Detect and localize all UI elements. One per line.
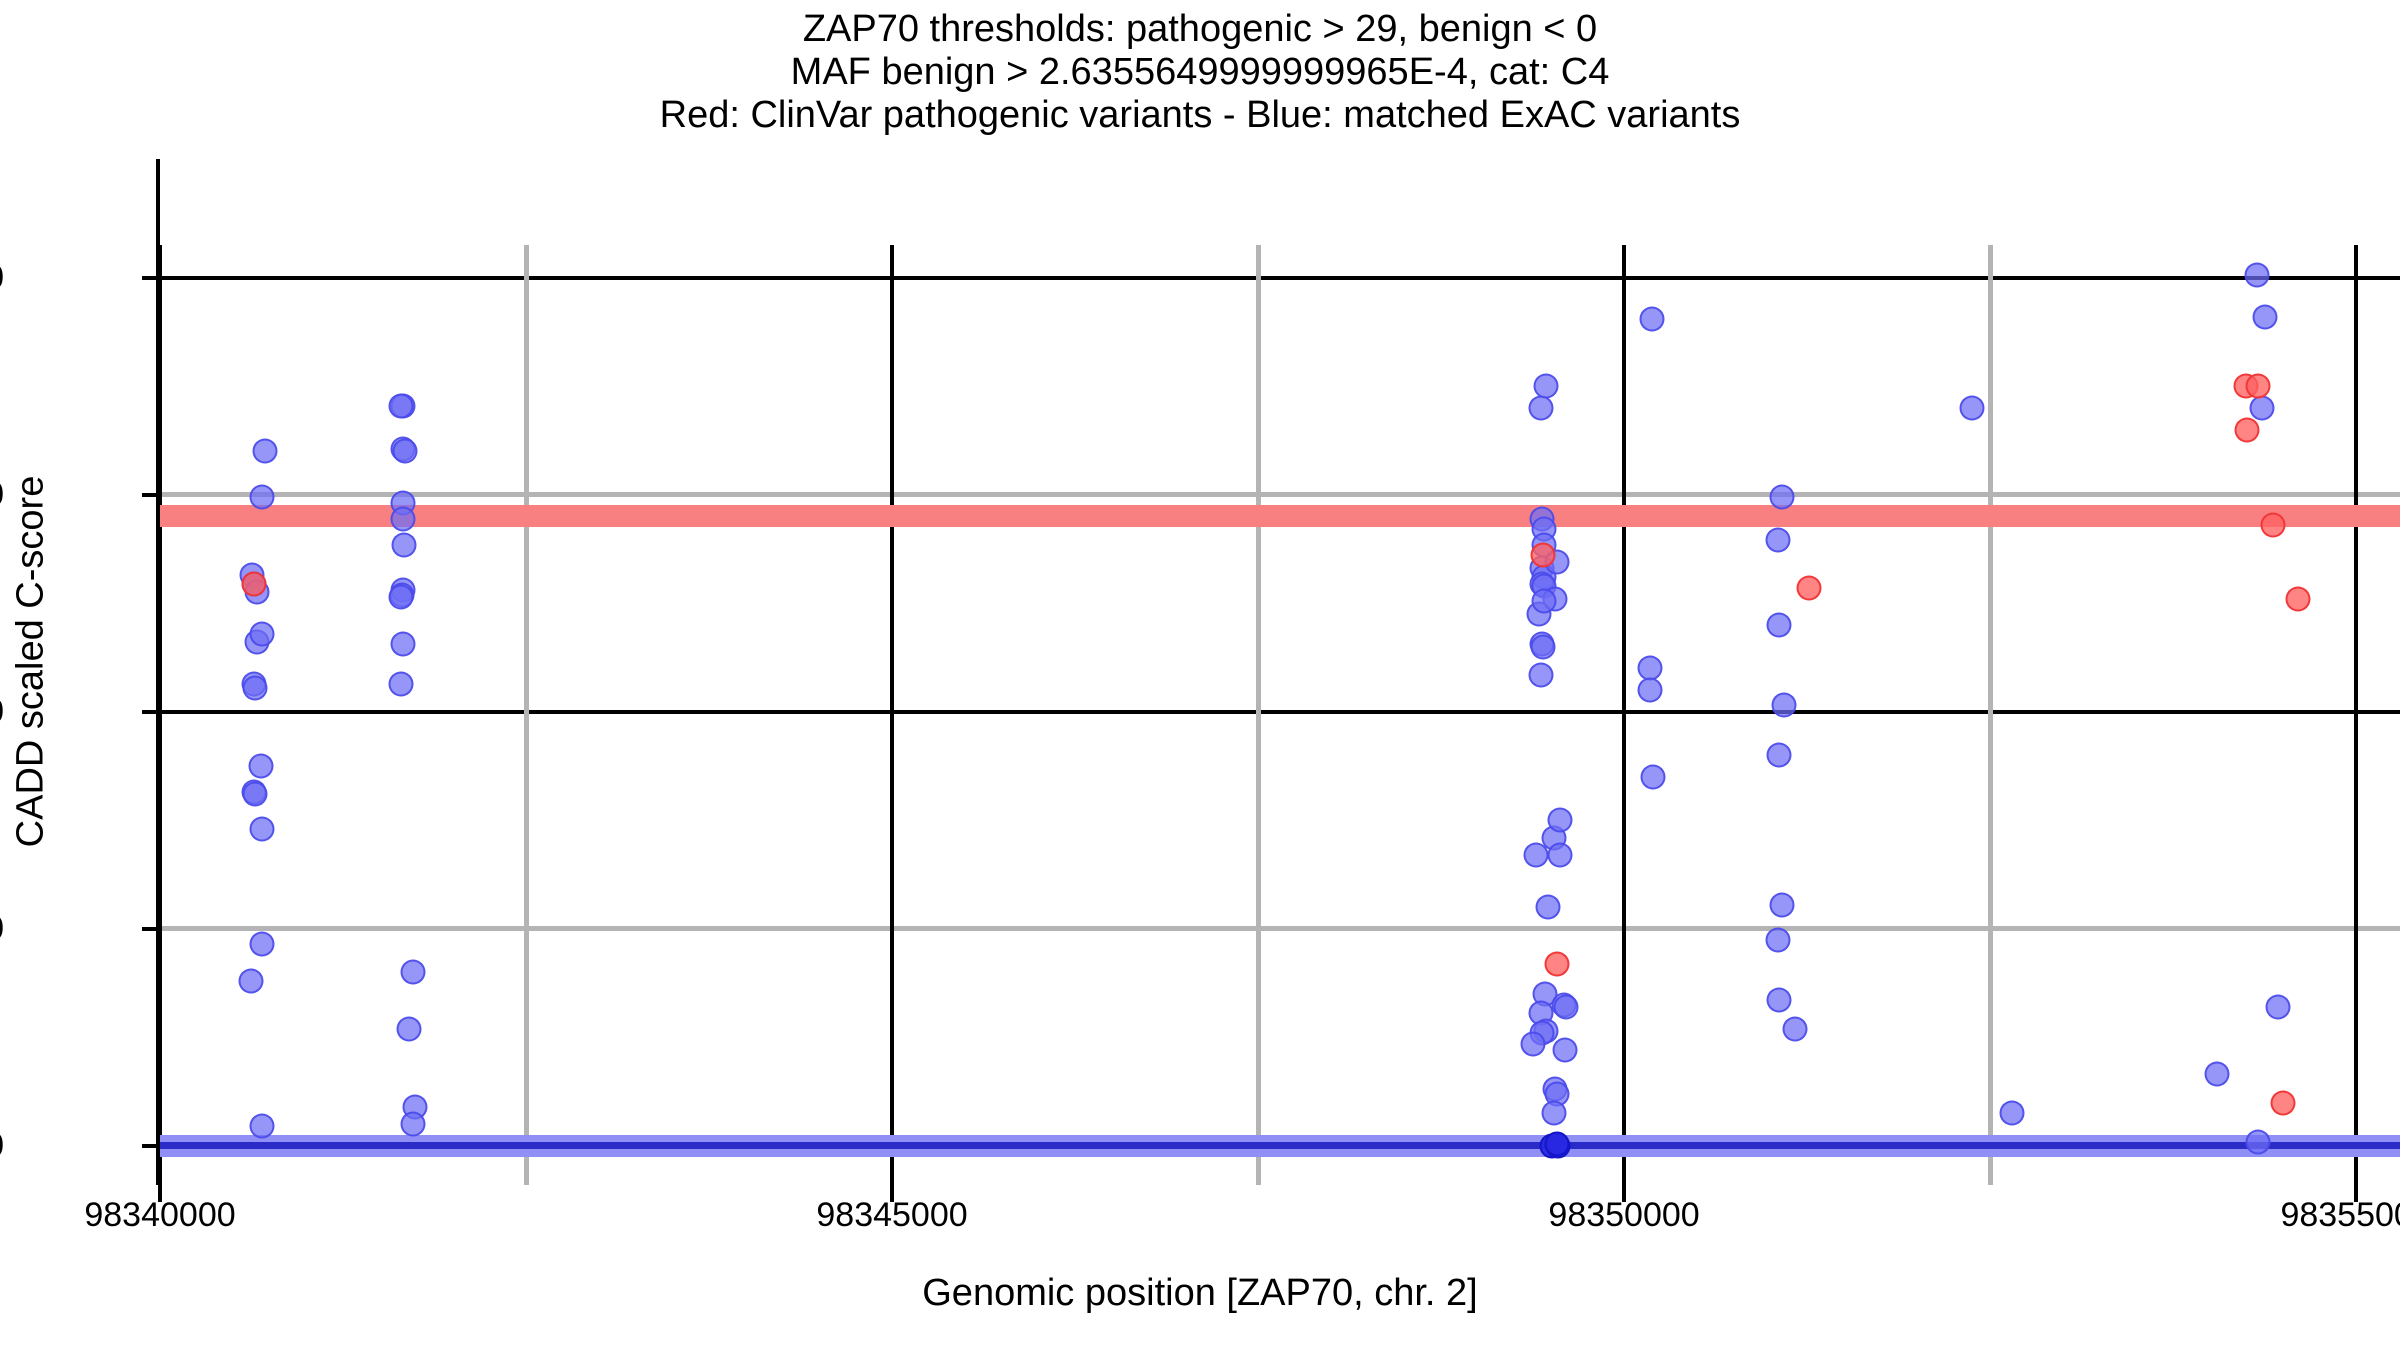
point-exac bbox=[396, 1016, 421, 1041]
point-exac bbox=[250, 816, 275, 841]
y-axis-label: CADD scaled C-score bbox=[0, 0, 59, 1350]
point-exac bbox=[1641, 764, 1666, 789]
point-exac bbox=[253, 439, 278, 464]
point-exac bbox=[2250, 395, 2275, 420]
point-exac bbox=[1783, 1016, 1808, 1041]
point-exac bbox=[389, 584, 414, 609]
gridline-y-40 bbox=[160, 276, 2400, 280]
point-exac bbox=[2245, 1129, 2270, 1154]
point-exac bbox=[250, 1114, 275, 1139]
gridline-x-98350000 bbox=[1622, 245, 1626, 1185]
point-exac bbox=[2244, 263, 2269, 288]
point-pathogenic bbox=[242, 571, 267, 596]
point-exac bbox=[401, 1112, 426, 1137]
point-exac bbox=[401, 960, 426, 985]
point-exac bbox=[1528, 395, 1553, 420]
point-exac bbox=[1553, 1038, 1578, 1063]
point-exac bbox=[389, 393, 414, 418]
point-exac bbox=[250, 932, 275, 957]
plot-background bbox=[160, 245, 2400, 1185]
point-exac bbox=[250, 484, 275, 509]
point-exac bbox=[1960, 395, 1985, 420]
point-exac bbox=[1532, 589, 1557, 614]
point-exac bbox=[1767, 743, 1792, 768]
point-exac bbox=[389, 671, 414, 696]
gridline-x-98342500 bbox=[524, 245, 529, 1185]
point-pathogenic bbox=[2260, 513, 2285, 538]
point-exac bbox=[1521, 1031, 1546, 1056]
gridline-x-98352500 bbox=[1988, 245, 1993, 1185]
point-exac bbox=[1767, 612, 1792, 637]
point-exac bbox=[238, 968, 263, 993]
title-line-thresholds: ZAP70 thresholds: pathogenic > 29, benig… bbox=[0, 8, 2400, 51]
point-exac bbox=[1767, 988, 1792, 1013]
point-exac bbox=[2266, 994, 2291, 1019]
point-exac bbox=[1770, 484, 1795, 509]
point-exac bbox=[392, 532, 417, 557]
x-axis-label: Genomic position [ZAP70, chr. 2] bbox=[0, 1272, 2400, 1315]
y-tick-mark-0 bbox=[142, 1144, 158, 1148]
y-tick-mark-30 bbox=[142, 493, 158, 497]
gridline-x-98345000 bbox=[890, 245, 894, 1185]
title-line-legend: Red: ClinVar pathogenic variants - Blue:… bbox=[0, 94, 2400, 137]
x-tick-label-98355000: 98355000 bbox=[2280, 1196, 2400, 1235]
y-tick-mark-10 bbox=[142, 927, 158, 931]
point-pathogenic bbox=[2285, 586, 2310, 611]
x-tick-mark-98355000 bbox=[2354, 1185, 2358, 1202]
x-tick-mark-98340000 bbox=[158, 1185, 162, 1202]
point-exac bbox=[391, 506, 416, 531]
chart-title: ZAP70 thresholds: pathogenic > 29, benig… bbox=[0, 8, 2400, 137]
chart-root: ZAP70 thresholds: pathogenic > 29, benig… bbox=[0, 0, 2400, 1350]
point-exac bbox=[2253, 304, 2278, 329]
point-exac bbox=[392, 439, 417, 464]
point-pathogenic bbox=[2235, 417, 2260, 442]
point-exac bbox=[391, 632, 416, 657]
x-tick-mark-98350000 bbox=[1622, 1185, 1626, 1202]
benign-threshold-line bbox=[160, 1142, 2400, 1149]
point-exac bbox=[243, 782, 268, 807]
y-axis-label-text: CADD scaled C-score bbox=[10, 382, 53, 942]
benign-threshold-band bbox=[160, 1135, 2400, 1157]
y-tick-mark-20 bbox=[142, 710, 158, 714]
point-exac bbox=[1541, 1101, 1566, 1126]
point-exac bbox=[1547, 843, 1572, 868]
point-exac bbox=[1534, 374, 1559, 399]
pathogenic-threshold-band bbox=[160, 505, 2400, 527]
y-tick-mark-40 bbox=[142, 276, 158, 280]
y-tick-label-0: 0 bbox=[0, 1126, 4, 1165]
point-exac bbox=[1535, 895, 1560, 920]
point-exac bbox=[1771, 693, 1796, 718]
plot-area bbox=[160, 245, 2400, 1185]
point-exac bbox=[249, 754, 274, 779]
gridline-x-98340000 bbox=[158, 245, 162, 1185]
point-exac bbox=[2204, 1062, 2229, 1087]
gridline-x-98355000 bbox=[2354, 245, 2358, 1185]
point-exac bbox=[250, 621, 275, 646]
gridline-y-30 bbox=[160, 492, 2400, 497]
point-pathogenic bbox=[2245, 374, 2270, 399]
point-pathogenic bbox=[1544, 951, 1569, 976]
point-exac bbox=[1530, 634, 1555, 659]
point-pathogenic bbox=[2270, 1090, 2295, 1115]
y-tick-label-40: 40 bbox=[0, 258, 4, 297]
point-exac bbox=[1765, 927, 1790, 952]
gridline-x-98347500 bbox=[1256, 245, 1261, 1185]
point-exac bbox=[1528, 662, 1553, 687]
y-tick-label-30: 30 bbox=[0, 475, 4, 514]
y-tick-label-20: 20 bbox=[0, 692, 4, 731]
point-exac bbox=[1547, 808, 1572, 833]
point-exac bbox=[1770, 892, 1795, 917]
point-exac bbox=[2000, 1101, 2025, 1126]
y-tick-label-10: 10 bbox=[0, 909, 4, 948]
point-exac bbox=[1765, 528, 1790, 553]
point-exac bbox=[1639, 306, 1664, 331]
point-exac bbox=[242, 675, 267, 700]
point-exac bbox=[1637, 678, 1662, 703]
gridline-y-10 bbox=[160, 926, 2400, 931]
point-exac bbox=[1545, 1131, 1570, 1156]
title-line-maf: MAF benign > 2.6355649999999965E-4, cat:… bbox=[0, 51, 2400, 94]
point-exac bbox=[1554, 994, 1579, 1019]
x-tick-mark-98345000 bbox=[890, 1185, 894, 1202]
gridline-y-20 bbox=[160, 710, 2400, 714]
point-pathogenic bbox=[1530, 543, 1555, 568]
point-pathogenic bbox=[1796, 576, 1821, 601]
